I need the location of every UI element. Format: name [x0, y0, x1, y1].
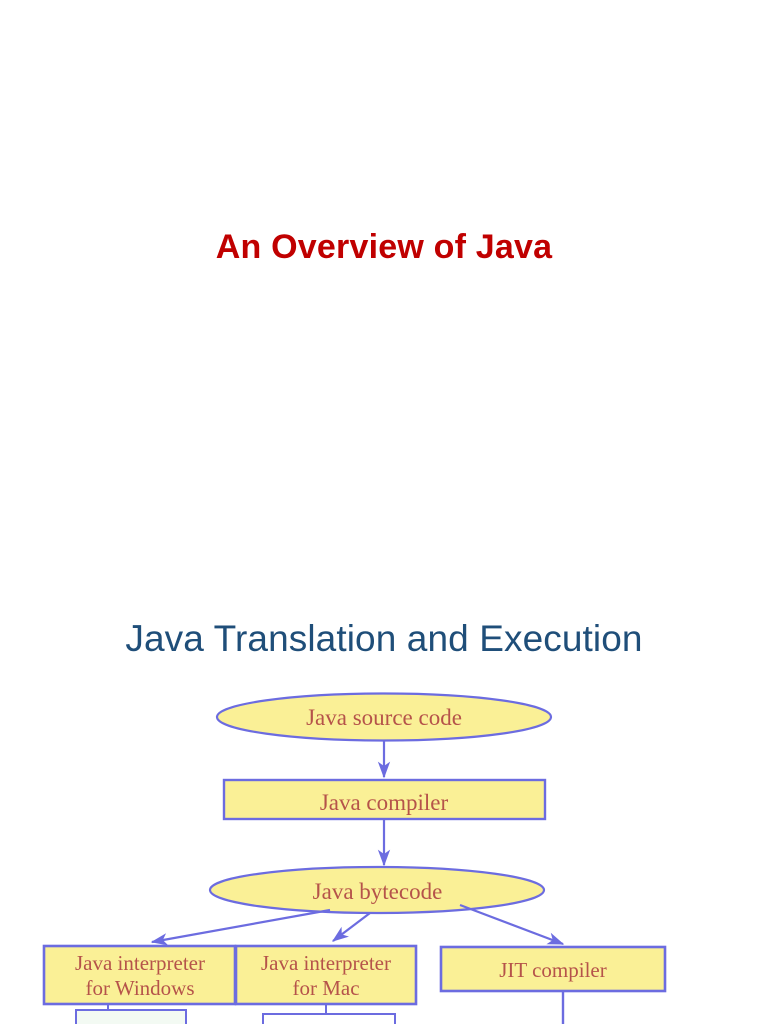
- node-java-interpreter-for-windows[interactable]: [44, 946, 235, 1004]
- node-java-compiler[interactable]: [224, 780, 545, 819]
- edge-bytecode-to-interpreter-mac: [333, 913, 370, 941]
- node-java-source-code[interactable]: [217, 694, 551, 741]
- flowchart: Java source code Java compiler Java byte…: [0, 0, 768, 1024]
- node-partial-below-interpreter-mac[interactable]: [263, 1014, 395, 1024]
- node-java-bytecode[interactable]: [210, 867, 544, 913]
- node-java-interpreter-for-mac[interactable]: [236, 946, 416, 1004]
- node-partial-below-interpreter-windows[interactable]: [76, 1010, 186, 1024]
- slide-canvas: An Overview of Java Java Translation and…: [0, 0, 768, 1024]
- flowchart-shapes: [0, 0, 768, 1024]
- node-jit-compiler[interactable]: [441, 947, 665, 991]
- edge-bytecode-to-interpreter-windows: [152, 910, 330, 942]
- edge-bytecode-to-jit-compiler: [460, 905, 563, 944]
